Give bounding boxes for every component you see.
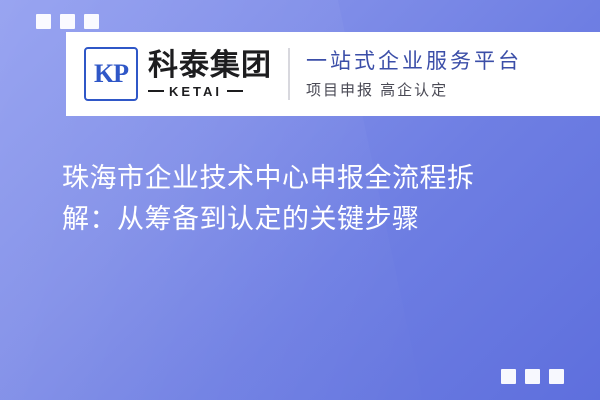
decor-dot — [525, 369, 540, 384]
banner-card: KP 科泰集团 KETAI 一站式企业服务平台 项目申报 高企认定 珠海市企业技… — [0, 0, 600, 400]
logo-monogram: KP — [94, 61, 128, 87]
page-title-line-2: 解：从筹备到认定的关键步骤 — [62, 199, 572, 240]
slogan-main: 一站式企业服务平台 — [306, 48, 522, 75]
logo-mark-icon: KP — [84, 47, 138, 101]
logo: KP 科泰集团 KETAI — [84, 47, 272, 101]
decor-dot — [501, 369, 516, 384]
decor-dot — [60, 14, 75, 29]
company-name: 科泰集团 — [148, 50, 272, 82]
page-title-line-1: 珠海市企业技术中心申报全流程拆 — [62, 158, 572, 199]
logo-rule-right — [227, 90, 243, 92]
decor-dots-bottom — [501, 369, 564, 384]
header-divider — [288, 48, 290, 100]
slogan: 一站式企业服务平台 项目申报 高企认定 — [306, 48, 522, 101]
slogan-sub: 项目申报 高企认定 — [306, 81, 522, 101]
header-panel: KP 科泰集团 KETAI 一站式企业服务平台 项目申报 高企认定 — [66, 32, 600, 116]
logo-rule-left — [148, 90, 164, 92]
company-name-en: KETAI — [169, 85, 222, 98]
logo-text: 科泰集团 KETAI — [148, 50, 272, 98]
decor-dot — [549, 369, 564, 384]
decor-dots-top — [36, 14, 99, 29]
company-name-en-row: KETAI — [148, 85, 272, 98]
page-title: 珠海市企业技术中心申报全流程拆 解：从筹备到认定的关键步骤 — [62, 158, 572, 239]
decor-dot — [36, 14, 51, 29]
decor-dot — [84, 14, 99, 29]
